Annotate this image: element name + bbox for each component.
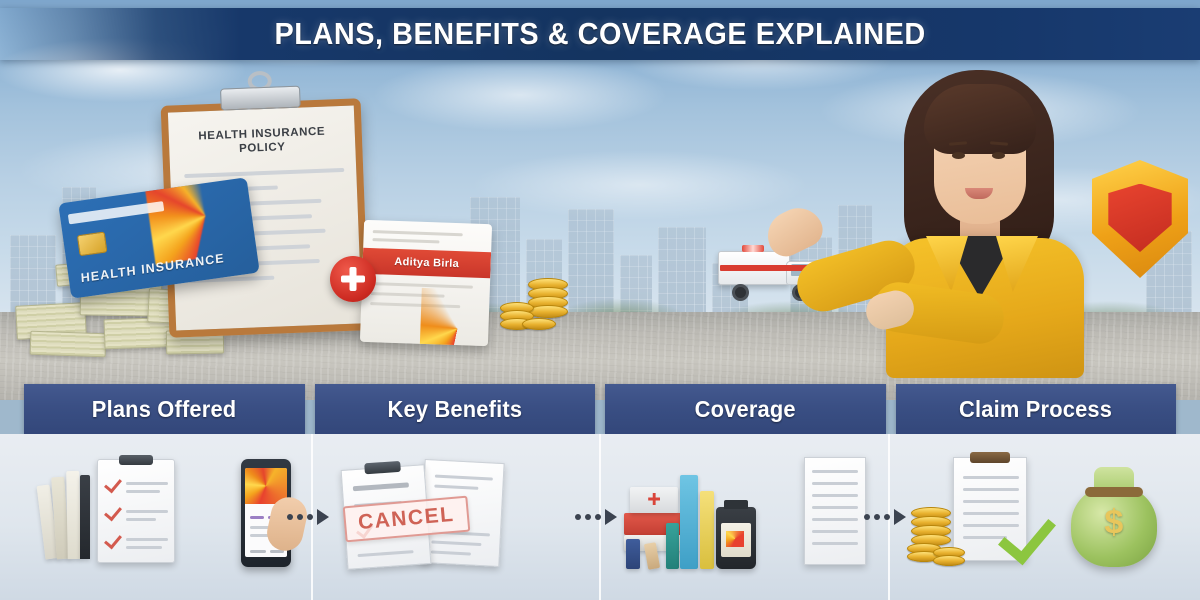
brand-band: Aditya Birla — [362, 248, 491, 278]
brand-burst-icon — [143, 177, 260, 264]
checklist-icon — [804, 457, 866, 565]
hero-scene: HEALTH INSURANCE POLICY HEALTH INSURANCE — [0, 60, 1200, 370]
infographic-poster: PLANS, BENEFITS & COVERAGE EXPLAINED HEA… — [0, 0, 1200, 600]
step-header-row: Plans Offered Key Benefits Coverage Clai… — [0, 384, 1200, 434]
leaflet-burst-icon — [420, 288, 493, 346]
gold-coins-icon — [907, 507, 963, 569]
red-cross-icon — [330, 256, 376, 302]
step-panel-coverage[interactable] — [601, 434, 890, 600]
presenter-figure — [852, 60, 1142, 370]
step-header-coverage[interactable]: Coverage — [605, 384, 886, 434]
plans-offered-illustration — [41, 457, 293, 577]
hair-front — [924, 84, 1036, 154]
policy-title: HEALTH INSURANCE POLICY — [169, 123, 356, 158]
clipboard-clip-icon — [220, 86, 301, 111]
gold-coins-icon — [500, 278, 570, 338]
step-arrow-2 — [575, 509, 617, 525]
step-label: Plans Offered — [92, 396, 237, 423]
step-arrow-3 — [864, 509, 906, 525]
policy-title-line1: HEALTH INSURANCE — [198, 126, 325, 143]
documents-icon — [41, 463, 103, 559]
money-bag-icon: $ — [1071, 485, 1157, 567]
first-aid-icon — [630, 487, 678, 513]
dollar-symbol: $ — [1104, 503, 1123, 542]
step-label: Claim Process — [959, 396, 1112, 423]
step-panel-plans-offered[interactable] — [24, 434, 313, 600]
card-chip-icon — [77, 232, 108, 257]
step-label: Coverage — [695, 396, 796, 423]
pill-bottle-icon — [716, 507, 756, 569]
step-label: Key Benefits — [387, 396, 522, 423]
policy-title-line2: POLICY — [239, 141, 286, 155]
title-banner: PLANS, BENEFITS & COVERAGE EXPLAINED — [0, 8, 1200, 60]
claim-process-illustration: $ — [907, 457, 1159, 577]
step-header-key-benefits[interactable]: Key Benefits — [315, 384, 596, 434]
card-label: HEALTH INSURANCE — [80, 251, 225, 285]
step-header-plans-offered[interactable]: Plans Offered — [24, 384, 305, 434]
steps-section: Plans Offered Key Benefits Coverage Clai… — [0, 384, 1200, 600]
step-arrow-1 — [287, 509, 329, 525]
page-title: PLANS, BENEFITS & COVERAGE EXPLAINED — [274, 16, 925, 52]
clipboard-checklist-icon — [97, 459, 175, 563]
coverage-illustration — [618, 457, 870, 577]
brand-leaflet: Aditya Birla — [360, 220, 492, 346]
key-benefits-illustration: CANCEL — [330, 457, 582, 577]
step-header-claim-process[interactable]: Claim Process — [896, 384, 1177, 434]
step-body-row: CANCEL — [0, 434, 1200, 600]
step-panel-key-benefits[interactable]: CANCEL — [313, 434, 602, 600]
brand-name: Aditya Birla — [394, 256, 459, 270]
step-panel-claim-process[interactable]: $ — [890, 434, 1177, 600]
green-check-icon — [1003, 513, 1049, 559]
